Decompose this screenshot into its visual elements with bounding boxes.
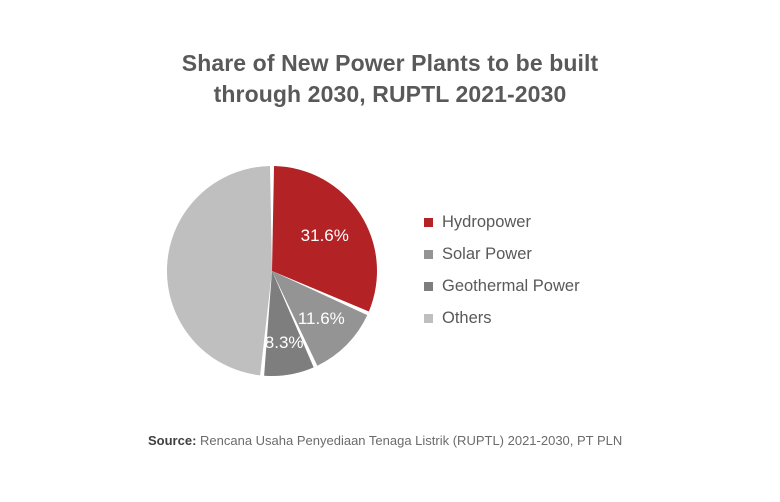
legend-item-geothermal-power[interactable]: Geothermal Power <box>424 270 674 302</box>
square-marker-icon <box>424 314 433 323</box>
chart-canvas: Share of New Power Plants to be built th… <box>0 0 780 502</box>
legend-item-label: Solar Power <box>442 246 532 263</box>
pie-slice-others[interactable] <box>167 166 272 375</box>
page-title-line-2: through 2030, RUPTL 2021-2030 <box>0 79 780 110</box>
legend-item-hydropower[interactable]: Hydropower <box>424 206 674 238</box>
square-marker-icon <box>424 282 433 291</box>
legend-item-others[interactable]: Others <box>424 302 674 334</box>
pie-label-geothermal-power: 8.3% <box>265 333 304 352</box>
source-text: Rencana Usaha Penyediaan Tenaga Listrik … <box>196 433 622 448</box>
source-note: Source: Rencana Usaha Penyediaan Tenaga … <box>148 432 622 449</box>
pie-label-hydropower: 31.6% <box>301 226 349 245</box>
page-title-line-1: Share of New Power Plants to be built <box>0 48 780 79</box>
square-marker-icon <box>424 218 433 227</box>
legend-item-solar-power[interactable]: Solar Power <box>424 238 674 270</box>
page-title: Share of New Power Plants to be built th… <box>0 48 780 110</box>
legend-item-label: Hydropower <box>442 214 531 231</box>
chart-legend: Hydropower Solar Power Geothermal Power … <box>424 206 674 334</box>
source-label: Source: <box>148 433 196 448</box>
legend-item-label: Others <box>442 310 492 327</box>
pie-label-solar-power: 11.6% <box>298 309 345 328</box>
legend-item-label: Geothermal Power <box>442 278 580 295</box>
pie-chart: 31.6% 11.6% 8.3% <box>167 166 377 376</box>
square-marker-icon <box>424 250 433 259</box>
pie-chart-svg: 31.6% 11.6% 8.3% <box>167 166 377 376</box>
